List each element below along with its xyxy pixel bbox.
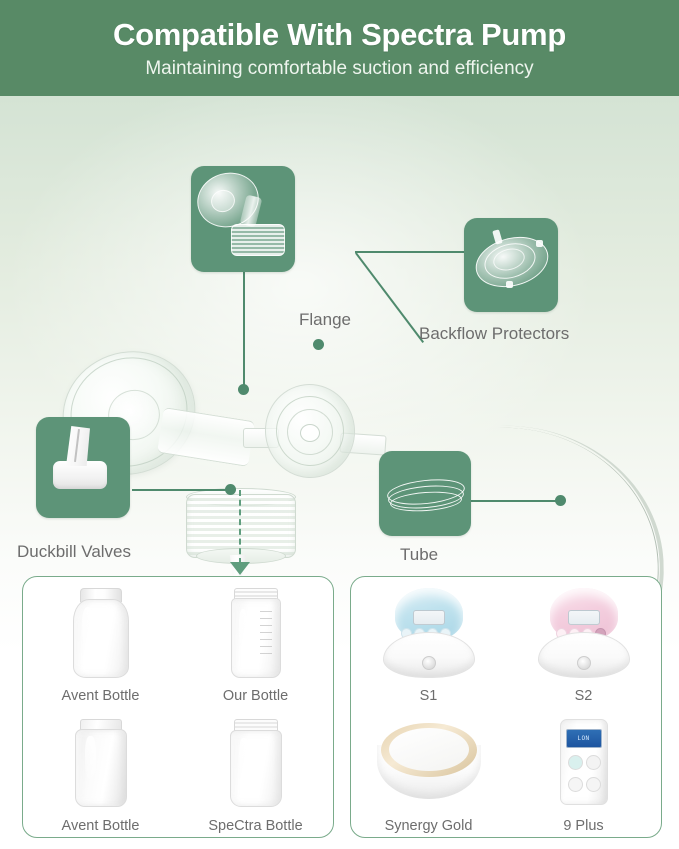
backflow-protector-disc <box>260 379 361 483</box>
connector-line-tube <box>463 500 561 502</box>
list-item-label: Avent Bottle <box>62 819 140 834</box>
flange-throat <box>157 407 255 467</box>
connector-dot-duckbill <box>225 484 236 495</box>
avent-contour-bottle-art <box>23 577 178 687</box>
list-item[interactable]: LON 9 Plus <box>506 707 661 837</box>
compatible-pumps-panel: S1 <box>350 576 662 838</box>
page-subtitle: Maintaining comfortable suction and effi… <box>145 59 533 78</box>
callout-label-duckbill: Duckbill Valves <box>17 543 131 560</box>
pump-9plus-art: LON <box>506 707 661 817</box>
list-item-label: SpeCtra Bottle <box>208 819 302 834</box>
compatible-bottles-panel: Avent Bottle Our Bottle <box>22 576 334 838</box>
dashed-arrow-head <box>230 562 250 575</box>
list-item[interactable]: S2 <box>506 577 661 707</box>
connector-line-backflow-h <box>355 251 466 253</box>
page-title: Compatible With Spectra Pump <box>113 19 566 50</box>
list-item-label: S2 <box>575 689 593 704</box>
pump-s1-art <box>351 577 506 687</box>
diagram-stage: Flange Backflow Protectors Duckbill Valv… <box>0 96 679 849</box>
list-item-label: S1 <box>420 689 438 704</box>
lcd-screen-text: LON <box>566 729 602 748</box>
infographic-page: Compatible With Spectra Pump Maintaining… <box>0 0 679 849</box>
connector-collar-top <box>186 488 296 506</box>
callout-label-flange: Flange <box>299 311 351 328</box>
list-item-label: Avent Bottle <box>62 689 140 704</box>
callout-label-tube: Tube <box>400 546 438 563</box>
spectra-bottle-art <box>178 707 333 817</box>
list-item[interactable]: Synergy Gold <box>351 707 506 837</box>
connector-arm-right <box>339 432 386 455</box>
backflow-protector-ring-2 <box>272 392 348 470</box>
header-banner: Compatible With Spectra Pump Maintaining… <box>0 0 679 96</box>
pump-synergy-gold-art <box>351 707 506 817</box>
connector-dot-backflow <box>313 339 324 350</box>
list-item[interactable]: S1 <box>351 577 506 707</box>
list-item[interactable]: Avent Bottle <box>23 707 178 837</box>
connector-line-backflow-diag <box>355 252 424 342</box>
backflow-protector-ring-3 <box>284 406 335 457</box>
connector-dot-flange <box>238 384 249 395</box>
avent-wide-bottle-art <box>23 707 178 817</box>
dashed-arrow-shaft <box>239 490 241 564</box>
backflow-protector-icon-nub-bottom <box>506 281 513 288</box>
list-item-label: 9 Plus <box>563 819 603 834</box>
callout-thumb-duckbill[interactable] <box>36 417 130 518</box>
backflow-protector-hub <box>300 424 320 442</box>
connector-line-duckbill <box>132 489 230 491</box>
connector-dot-tube <box>555 495 566 506</box>
callout-label-backflow: Backflow Protectors <box>419 325 569 342</box>
list-item[interactable]: Avent Bottle <box>23 577 178 707</box>
flange-icon-base <box>231 224 285 256</box>
list-item[interactable]: Our Bottle <box>178 577 333 707</box>
connector-arm-left <box>243 428 279 448</box>
graduated-bottle-art <box>178 577 333 687</box>
backflow-protector-icon-nub-right <box>536 240 543 247</box>
callout-thumb-tube[interactable] <box>379 451 471 536</box>
list-item[interactable]: SpeCtra Bottle <box>178 707 333 837</box>
list-item-label: Our Bottle <box>223 689 288 704</box>
connector-line-flange <box>243 272 245 388</box>
pump-s2-art <box>506 577 661 687</box>
connector-collar <box>186 494 296 558</box>
callout-thumb-backflow[interactable] <box>464 218 558 312</box>
callout-thumb-flange[interactable] <box>191 166 295 272</box>
list-item-label: Synergy Gold <box>385 819 473 834</box>
